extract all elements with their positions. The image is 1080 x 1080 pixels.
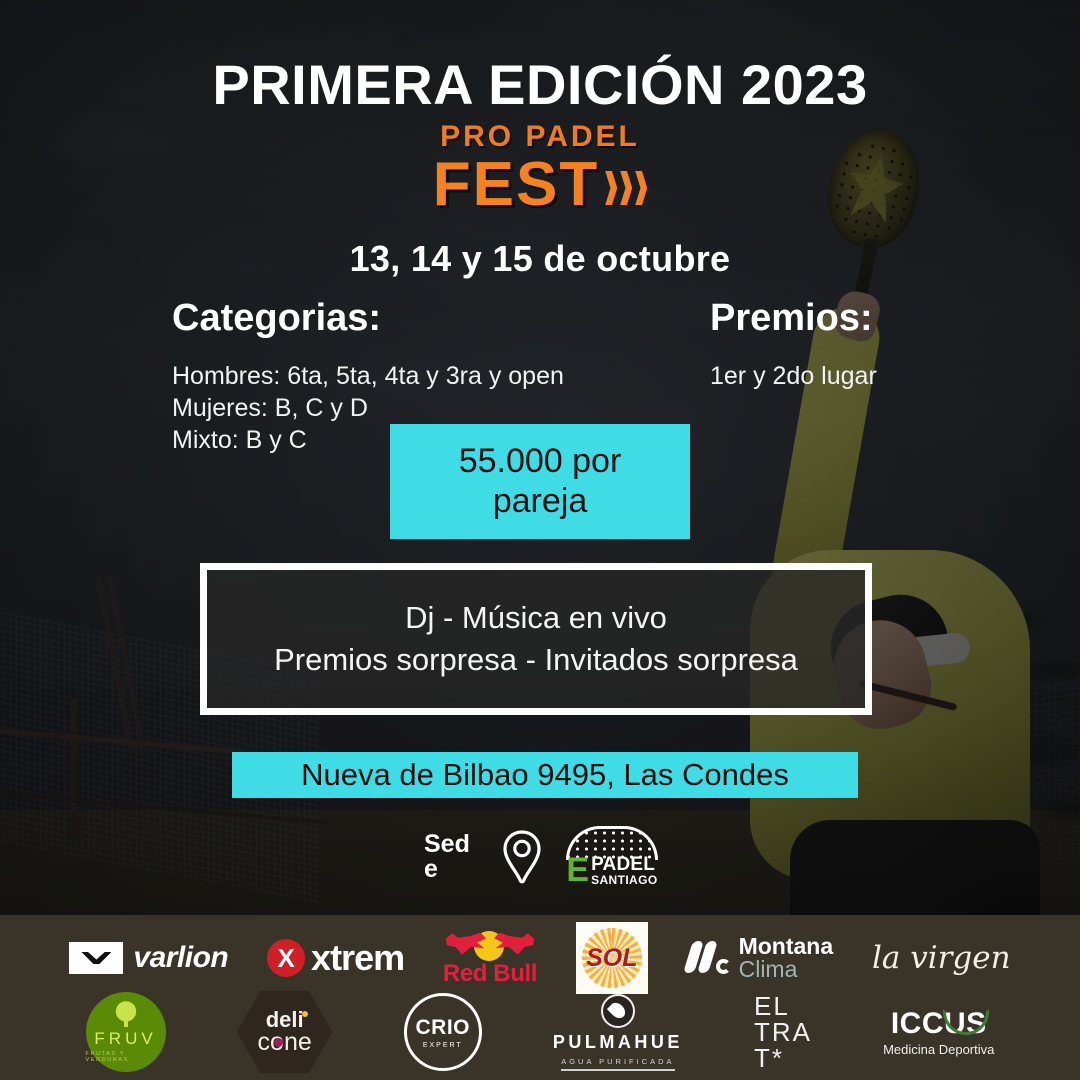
sol-logo-card: SOL bbox=[576, 922, 648, 994]
address-badge: Nueva de Bilbao 9495, Las Condes bbox=[232, 752, 858, 798]
fruv-tagline: FRUTAS Y VERDURAS bbox=[86, 1051, 166, 1063]
varlion-mark-icon bbox=[69, 942, 123, 974]
sponsor-iccus: ICCUS Medicina Deportiva bbox=[883, 1007, 994, 1057]
sponsor-crio-expert: CRIO EXPERT bbox=[404, 993, 482, 1071]
iccus-tagline: Medicina Deportiva bbox=[883, 1042, 994, 1057]
sponsor-deli-cone: deli cone bbox=[237, 991, 333, 1073]
epadel-wordmark: E PADEL SANTIAGO bbox=[566, 855, 657, 886]
el-trat-wordmark: EL TRA T* bbox=[754, 993, 812, 1071]
deli-cone-hexagon: deli cone bbox=[237, 991, 333, 1073]
logo-main-row: FEST bbox=[433, 154, 647, 216]
xtrem-x-icon: X bbox=[267, 939, 305, 977]
categories-heading: Categorias: bbox=[172, 297, 381, 340]
sponsor-montana-clima: Montana Clima bbox=[687, 935, 834, 982]
epadel-santiago-logo: E PADEL SANTIAGO bbox=[562, 826, 662, 888]
red-bull-wordmark: Red Bull bbox=[443, 960, 537, 988]
venue-label: Sede bbox=[424, 832, 482, 882]
tree-icon bbox=[111, 1001, 141, 1027]
extras-line-1: Dj - Música en vivo bbox=[405, 600, 667, 636]
sponsor-el-trat: EL TRA T* bbox=[754, 993, 812, 1071]
el-trat-line-1: EL bbox=[754, 993, 812, 1019]
prizes-line: 1er y 2do lugar bbox=[710, 360, 877, 392]
sponsor-row-1: varlion X xtrem Red Bull SOL bbox=[0, 922, 1080, 994]
prizes-heading: Premios: bbox=[710, 297, 873, 340]
poster-root: PRIMERA EDICIÓN 2023 PRO PADEL FEST 13, … bbox=[0, 0, 1080, 1080]
sponsor-red-bull: Red Bull bbox=[443, 929, 537, 988]
cone-wordmark: cone bbox=[258, 1031, 312, 1055]
montana-wordmark: Montana bbox=[739, 935, 834, 958]
price-line-2: pareja bbox=[459, 482, 622, 521]
event-dates: 13, 14 y 15 de octubre bbox=[0, 238, 1080, 280]
pulmahue-wordmark: PULMAHUE bbox=[553, 1032, 683, 1053]
double-chevron-right-icon bbox=[605, 171, 647, 205]
sponsor-sol: SOL bbox=[576, 922, 648, 994]
water-drop-icon bbox=[601, 994, 635, 1028]
la-virgen-wordmark: la virgen bbox=[872, 940, 1011, 976]
crio-wordmark: CRIO bbox=[416, 1016, 471, 1040]
fruv-wordmark: FRUV bbox=[94, 1029, 156, 1049]
xtrem-wordmark: xtrem bbox=[311, 937, 404, 979]
price-line-1: 55.000 por bbox=[459, 442, 622, 481]
page-title: PRIMERA EDICIÓN 2023 bbox=[0, 52, 1080, 117]
sponsor-pulmahue: PULMAHUE AGUA PURIFICADA bbox=[553, 994, 683, 1071]
crio-tagline: EXPERT bbox=[423, 1042, 463, 1049]
el-trat-line-3: T* bbox=[754, 1045, 812, 1071]
venue-row: Sede E PADEL SANTIAGO bbox=[424, 826, 662, 888]
extras-line-2: Premios sorpresa - Invitados sorpresa bbox=[274, 642, 798, 678]
address-text: Nueva de Bilbao 9495, Las Condes bbox=[301, 757, 789, 793]
varlion-wordmark: varlion bbox=[133, 941, 228, 975]
clima-wordmark: Clima bbox=[739, 958, 834, 981]
sponsor-fruv: FRUV FRUTAS Y VERDURAS bbox=[86, 992, 166, 1072]
categories-line: Mujeres: B, C y D bbox=[172, 392, 564, 424]
sponsor-row-2: FRUV FRUTAS Y VERDURAS deli cone CRIO bbox=[0, 992, 1080, 1072]
sponsor-xtrem: X xtrem bbox=[267, 937, 404, 979]
location-pin-icon bbox=[500, 829, 544, 885]
sponsor-la-virgen: la virgen bbox=[872, 940, 1011, 976]
montana-clima-mark-icon bbox=[687, 941, 731, 975]
crio-logo-circle: CRIO EXPERT bbox=[404, 993, 482, 1071]
poster-content: PRIMERA EDICIÓN 2023 PRO PADEL FEST 13, … bbox=[0, 0, 1080, 1080]
prizes-list: 1er y 2do lugar bbox=[710, 360, 877, 392]
fruv-logo-circle: FRUV FRUTAS Y VERDURAS bbox=[86, 992, 166, 1072]
el-trat-line-2: TRA bbox=[754, 1019, 812, 1045]
price-badge: 55.000 por pareja bbox=[390, 424, 690, 539]
pulmahue-tagline: AGUA PURIFICADA bbox=[561, 1057, 674, 1071]
categories-line: Hombres: 6ta, 5ta, 4ta y 3ra y open bbox=[172, 360, 564, 392]
sponsor-varlion: varlion bbox=[69, 941, 228, 975]
event-logo: PRO PADEL FEST bbox=[0, 122, 1080, 216]
epadel-letter-e: E bbox=[566, 856, 589, 885]
sol-wordmark: SOL bbox=[586, 944, 637, 973]
epadel-city: SANTIAGO bbox=[591, 874, 658, 886]
extras-info-box: Dj - Música en vivo Premios sorpresa - I… bbox=[200, 563, 872, 715]
logo-main-text: FEST bbox=[433, 154, 599, 216]
epadel-name: PADEL bbox=[591, 855, 658, 874]
logo-top-text: PRO PADEL bbox=[0, 122, 1080, 152]
price-text: 55.000 por pareja bbox=[459, 442, 622, 520]
red-bull-bulls-icon bbox=[444, 929, 536, 959]
